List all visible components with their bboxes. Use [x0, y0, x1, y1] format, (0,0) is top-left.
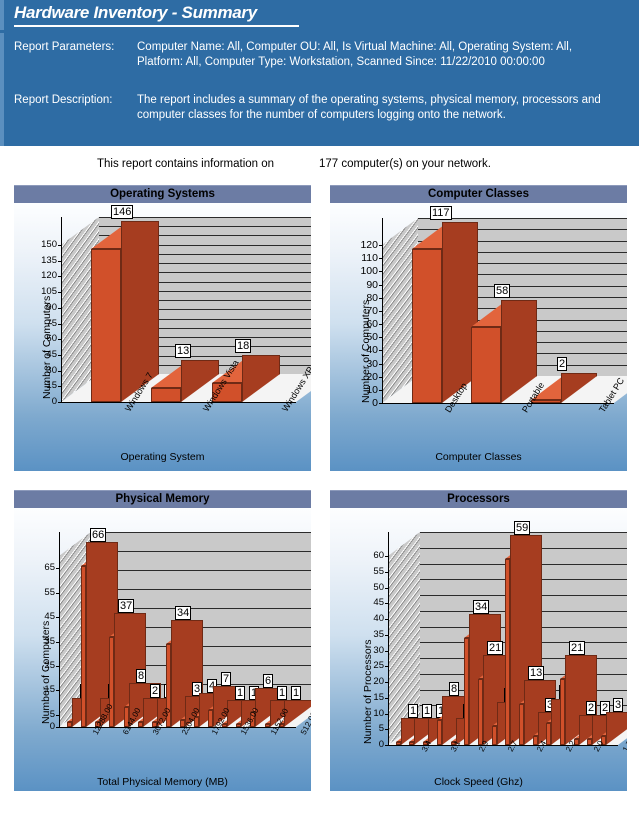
bar-value-label: 18 [235, 339, 251, 353]
bar-front-face [471, 327, 501, 403]
chart-y-tick-label: 50 [354, 582, 384, 593]
bar-value-label: 8 [136, 669, 146, 683]
bar-side-face [561, 373, 597, 403]
chart-gridline [91, 532, 311, 533]
page-title: Hardware Inventory - Summary [14, 3, 257, 23]
bar [601, 712, 627, 745]
bar-front-face [91, 249, 121, 402]
chart-y-tick-label: 110 [348, 252, 378, 264]
chart-plot-computer-classes: 1201101009080706050403020100Number of Co… [330, 203, 627, 471]
chart-y-tick-mark [58, 355, 62, 356]
bar-value-label: 7 [221, 672, 231, 686]
chart-y-tick-mark [379, 377, 383, 378]
summary-line: This report contains information on 177 … [0, 158, 639, 174]
bar-front-face [478, 679, 483, 745]
bar-value-label: 1 [408, 704, 418, 718]
bar-front-face [151, 388, 181, 402]
chart-y-tick-mark [379, 285, 383, 286]
chart-y-tick-mark [379, 298, 383, 299]
chart-y-tick-mark [379, 324, 383, 325]
bar-value-label: 117 [430, 206, 452, 220]
bar-value-label: 1 [291, 686, 301, 700]
bar-value-label: 21 [487, 641, 503, 655]
chart-panel-computer-classes: Computer Classes 12011010090807060504030… [330, 185, 627, 471]
bar-front-face [208, 710, 213, 727]
chart-y-tick-label: 120 [27, 270, 57, 281]
chart-y-tick-mark [385, 572, 389, 573]
chart-y-tick-mark [58, 386, 62, 387]
page-title-underline [14, 25, 299, 27]
bar-value-label: 1 [422, 704, 432, 718]
chart-y-tick-mark [56, 593, 60, 594]
chart-y-tick-mark [379, 390, 383, 391]
chart-x-axis-title: Computer Classes [330, 451, 627, 463]
chart-y-axis-title: Number of Computers [40, 621, 52, 724]
bar-value-label: 66 [90, 528, 106, 542]
report-description-value: The report includes a summary of the ope… [137, 93, 617, 123]
chart-y-tick-mark [379, 258, 383, 259]
bar-front-face [67, 722, 72, 727]
chart-y-axis-title: Number of Computers [360, 300, 372, 403]
chart-panel-processors: Processors 605550454035302520151050Numbe… [330, 490, 627, 791]
chart-y-tick-mark [385, 556, 389, 557]
bar [412, 222, 478, 403]
chart-y-tick-label: 150 [27, 239, 57, 250]
bar-value-label: 37 [118, 599, 134, 613]
bar-value-label: 21 [569, 641, 585, 655]
chart-gridline [91, 551, 311, 552]
chart-y-tick-mark [385, 651, 389, 652]
bar-front-face [409, 742, 414, 745]
chart-y-tick-mark [379, 403, 383, 404]
chart-y-tick-mark [385, 714, 389, 715]
chart-y-tick-label: 100 [348, 265, 378, 277]
chart-panel-operating-systems: Operating Systems 1501351201059075604530… [14, 185, 311, 471]
chart-y-tick-label: 45 [354, 597, 384, 608]
chart-y-tick-mark [385, 588, 389, 589]
chart-y-tick-mark [56, 568, 60, 569]
chart-plot-processors: 605550454035302520151050Number of Proces… [330, 508, 627, 791]
chart-y-tick-label: 55 [354, 566, 384, 577]
chart-title-processors: Processors [330, 490, 627, 508]
chart-y-axis-title: Number of Processors [362, 640, 374, 744]
chart-x-axis-title: Clock Speed (Ghz) [330, 776, 627, 788]
bar-front-face [519, 704, 524, 745]
chart-y-tick-label: 55 [25, 587, 55, 598]
bar-value-label: 6 [263, 674, 273, 688]
summary-text-before: This report contains information on [97, 158, 274, 170]
chart-plot-physical-memory: 65554535251550Number of Computers2662378… [14, 508, 311, 791]
report-parameters-value: Computer Name: All, Computer OU: All, Is… [137, 40, 617, 70]
bar-value-label: 13 [175, 344, 191, 358]
chart-y-tick-mark [58, 308, 62, 309]
bar-value-label: 2 [586, 701, 596, 715]
chart-y-tick-mark [58, 261, 62, 262]
chart-y-tick-mark [385, 745, 389, 746]
chart-y-axis-title: Number of Computers [41, 296, 53, 399]
chart-y-tick-mark [56, 715, 60, 716]
bar-front-face [437, 720, 442, 745]
bar-value-label: 59 [514, 521, 530, 535]
report-page: Hardware Inventory - Summary Report Para… [0, 0, 639, 813]
chart-y-tick-label: 120 [348, 239, 378, 251]
chart-gridline [91, 570, 311, 571]
bar-side-face [242, 355, 280, 402]
chart-y-tick-mark [58, 402, 62, 403]
bar-front-face [396, 742, 401, 745]
chart-y-tick-mark [58, 371, 62, 372]
chart-x-axis-title: Operating System [14, 451, 311, 463]
chart-title-operating-systems: Operating Systems [14, 185, 311, 203]
chart-y-tick-mark [56, 727, 60, 728]
bar-front-face [492, 726, 497, 745]
bar-front-face [587, 739, 592, 745]
report-description-label: Report Description: [14, 93, 112, 108]
chart-title-physical-memory: Physical Memory [14, 490, 311, 508]
bar-value-label: 2 [557, 357, 567, 371]
chart-title-computer-classes: Computer Classes [330, 185, 627, 203]
chart-y-tick-mark [385, 698, 389, 699]
chart-y-tick-label: 60 [354, 550, 384, 561]
chart-x-axis [382, 403, 614, 404]
chart-gridline [91, 589, 311, 590]
chart-y-tick-mark [385, 603, 389, 604]
bar-front-face [412, 249, 442, 403]
bar-front-face [505, 559, 510, 745]
chart-x-axis [61, 402, 296, 403]
bar-front-face [138, 722, 143, 727]
bar-front-face [265, 724, 270, 727]
chart-panel-physical-memory: Physical Memory 65554535251550Number of … [14, 490, 311, 791]
bar-value-label: 34 [473, 600, 489, 614]
header-left-accent [0, 0, 4, 146]
bar-front-face [81, 566, 86, 727]
bar [471, 300, 537, 403]
chart-y-tick-mark [56, 666, 60, 667]
bar-front-face [560, 679, 565, 745]
chart-y-tick-label: 135 [27, 255, 57, 266]
chart-y-tick-label: 90 [348, 279, 378, 291]
bar-front-face [236, 724, 241, 727]
chart-y-tick-mark [58, 292, 62, 293]
chart-y-tick-mark [385, 635, 389, 636]
header-left-accent-gap [0, 30, 4, 33]
chart-y-tick-mark [58, 339, 62, 340]
chart-y-tick-mark [379, 350, 383, 351]
report-parameters-label: Report Parameters: [14, 40, 114, 55]
bar-value-label: 1 [235, 686, 245, 700]
bar-value-label: 8 [449, 682, 459, 696]
chart-y-tick-mark [58, 245, 62, 246]
chart-y-axis [59, 532, 60, 727]
chart-y-tick-mark [379, 337, 383, 338]
chart-y-tick-mark [58, 276, 62, 277]
bar-front-face [464, 638, 469, 745]
chart-y-tick-mark [56, 617, 60, 618]
bar-value-label: 13 [528, 666, 544, 680]
report-header: Hardware Inventory - Summary Report Para… [0, 0, 639, 146]
chart-plot-operating-systems: 1501351201059075604530150Number of Compu… [14, 203, 311, 471]
chart-y-tick-mark [379, 271, 383, 272]
bar-value-label: 1 [277, 686, 287, 700]
bar-value-label: 58 [494, 284, 510, 298]
chart-y-tick-mark [379, 364, 383, 365]
bar-value-label: 3 [613, 698, 623, 712]
chart-y-tick-mark [56, 642, 60, 643]
chart-y-tick-mark [385, 619, 389, 620]
bar-value-label: 2 [150, 684, 160, 698]
chart-x-axis-title: Total Physical Memory (MB) [14, 776, 311, 788]
chart-y-tick-label: 65 [25, 562, 55, 573]
bar-side-face [606, 712, 627, 745]
chart-y-tick-mark [56, 690, 60, 691]
chart-y-tick-mark [58, 324, 62, 325]
chart-y-tick-mark [385, 729, 389, 730]
bar-value-label: 146 [111, 205, 133, 219]
chart-y-tick-label: 40 [354, 613, 384, 624]
summary-text-after: 177 computer(s) on your network. [319, 158, 491, 170]
chart-y-tick-mark [385, 682, 389, 683]
chart-y-tick-mark [379, 245, 383, 246]
chart-y-tick-mark [379, 311, 383, 312]
chart-y-tick-label: 35 [354, 629, 384, 640]
chart-y-tick-mark [385, 666, 389, 667]
bar-value-label: 34 [175, 606, 191, 620]
